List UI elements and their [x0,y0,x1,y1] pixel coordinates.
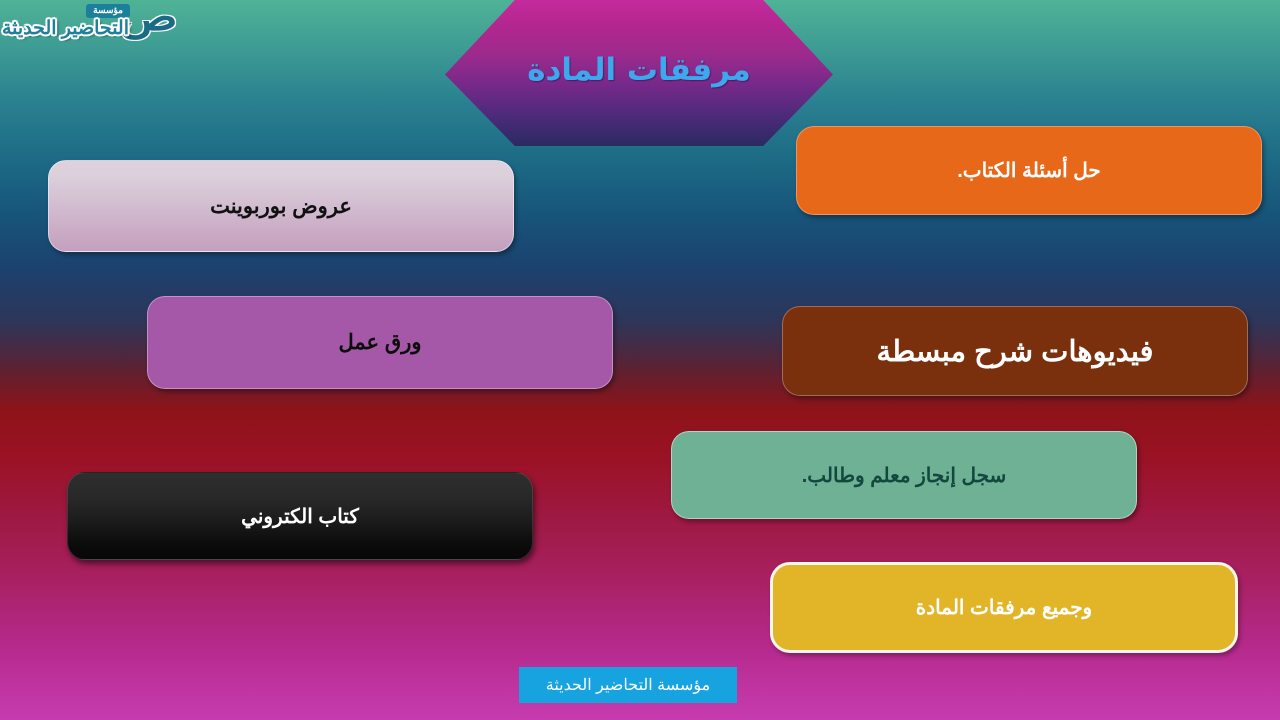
attachment-item-label: كتاب الكتروني [241,504,359,529]
attachment-item-ebook[interactable]: كتاب الكتروني [67,472,533,560]
page-title: مرفقات المادة [527,52,751,88]
brand-logo: ص مؤسسة التحاضير الحديثة [0,0,190,44]
attachment-item-worksheets[interactable]: ورق عمل [147,296,613,389]
attachment-item-all-materials[interactable]: وجميع مرفقات المادة [770,562,1238,653]
footer-banner: مؤسسة التحاضير الحديثة [519,667,737,703]
logo-institution-label: مؤسسة [86,4,130,18]
attachment-item-book-answers[interactable]: حل أسئلة الكتاب. [796,126,1262,215]
footer-label: مؤسسة التحاضير الحديثة [546,675,710,695]
attachment-item-achievement-record[interactable]: سجل إنجاز معلم وطالب. [671,431,1137,519]
attachment-item-powerpoint[interactable]: عروض بوربوينت [48,160,514,252]
attachment-item-label: حل أسئلة الكتاب. [957,158,1101,183]
attachment-item-label: عروض بوربوينت [210,194,352,219]
attachment-item-label: ورق عمل [339,330,422,355]
presentation-slide: ص مؤسسة التحاضير الحديثة مرفقات المادة ع… [0,0,1280,720]
attachment-item-label: سجل إنجاز معلم وطالب. [802,463,1007,488]
logo-main-label: التحاضير الحديثة [2,17,129,40]
attachment-item-videos[interactable]: فيديوهات شرح مبسطة [782,306,1248,396]
slide-title-hexagon: مرفقات المادة [445,0,833,146]
attachment-item-label: فيديوهات شرح مبسطة [877,334,1154,369]
attachment-item-label: وجميع مرفقات المادة [916,595,1092,620]
